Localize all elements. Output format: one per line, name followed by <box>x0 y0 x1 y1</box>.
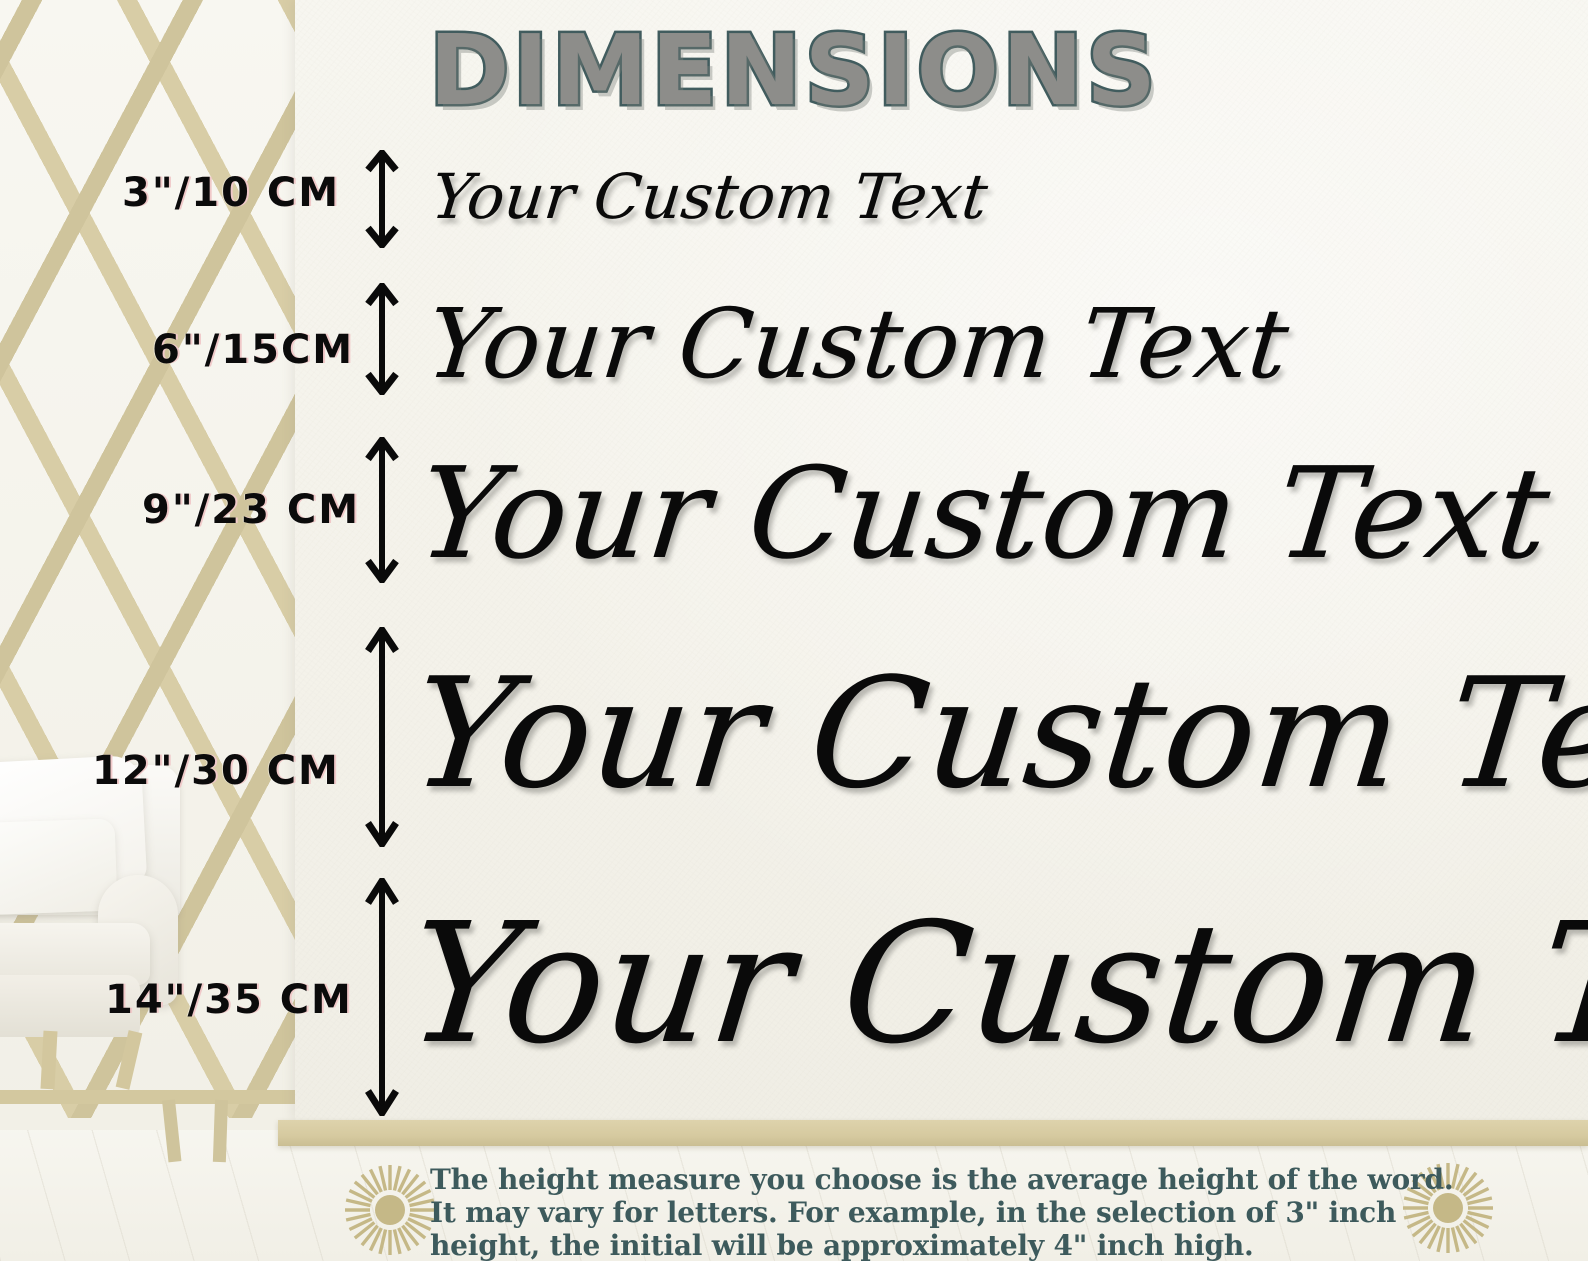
sample-script-3in: Your Custom Text <box>428 160 991 233</box>
size-label-14in: 14"/35 CM <box>105 977 353 1023</box>
measure-arrow-3in <box>363 150 401 248</box>
size-label-6in: 6"/15CM <box>152 327 354 373</box>
page-title: DIMENSIONS <box>0 14 1588 127</box>
size-label-9in: 9"/23 CM <box>142 487 360 533</box>
size-label-3in: 3"/10 CM <box>122 170 340 216</box>
lattice-leg <box>213 1100 228 1162</box>
footer-note-line-2: It may vary for letters. For example, in… <box>430 1196 1170 1229</box>
sample-script-9in: Your Custom Text <box>412 440 1556 587</box>
dimensions-infographic: DIMENSIONS 3"/10 CM Your Custom Text 6"/… <box>0 0 1588 1261</box>
chair-leg <box>40 1031 57 1090</box>
footer-note-line-3: height, the initial will be approximatel… <box>430 1229 1170 1261</box>
footer-note-line-1: The height measure you choose is the ave… <box>430 1163 1170 1196</box>
size-label-12in: 12"/30 CM <box>92 748 340 794</box>
sample-script-14in: Your Custom Text <box>400 888 1588 1081</box>
measure-arrow-12in <box>363 627 401 847</box>
sunburst-ornament-left <box>340 1160 440 1260</box>
measure-arrow-9in <box>363 437 401 583</box>
baseboard-trim <box>278 1120 1588 1146</box>
sample-script-12in: Your Custom Text <box>405 645 1588 822</box>
footer-note: The height measure you choose is the ave… <box>430 1163 1170 1261</box>
chair-leg <box>116 1030 143 1090</box>
sample-script-6in: Your Custom Text <box>422 288 1293 400</box>
measure-arrow-14in <box>363 878 401 1116</box>
measure-arrow-6in <box>363 283 401 395</box>
